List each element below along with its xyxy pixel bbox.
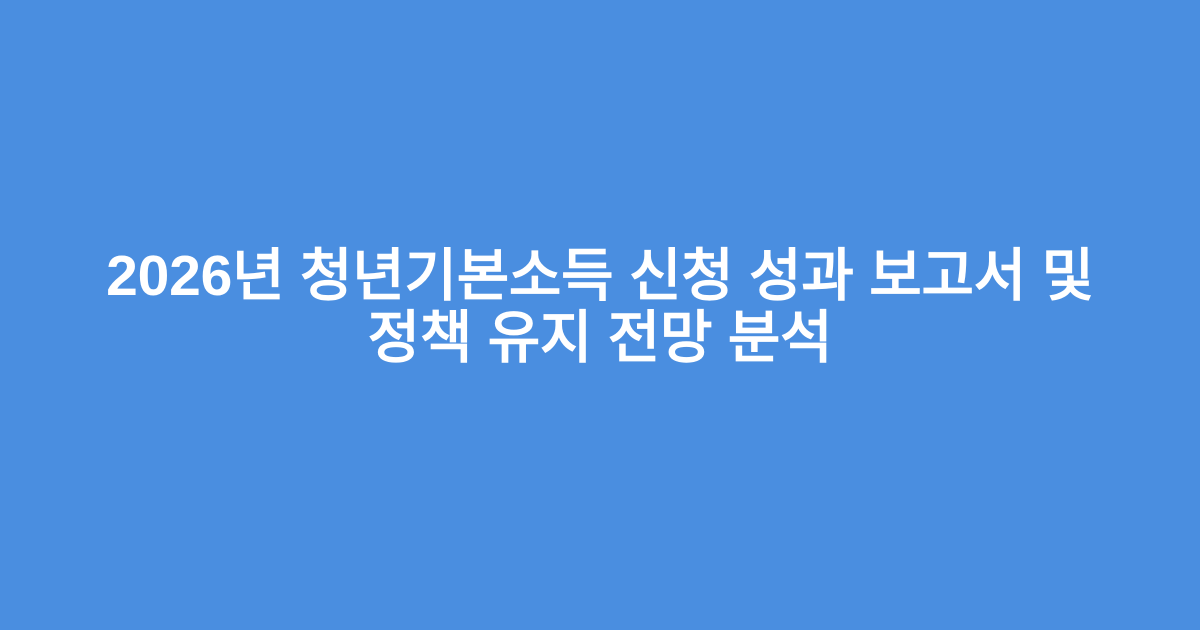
page-title: 2026년 청년기본소득 신청 성과 보고서 및 정책 유지 전망 분석 — [80, 245, 1120, 369]
title-block: 2026년 청년기본소득 신청 성과 보고서 및 정책 유지 전망 분석 — [80, 245, 1120, 369]
og-card-canvas: 2026년 청년기본소득 신청 성과 보고서 및 정책 유지 전망 분석 — [0, 0, 1200, 630]
